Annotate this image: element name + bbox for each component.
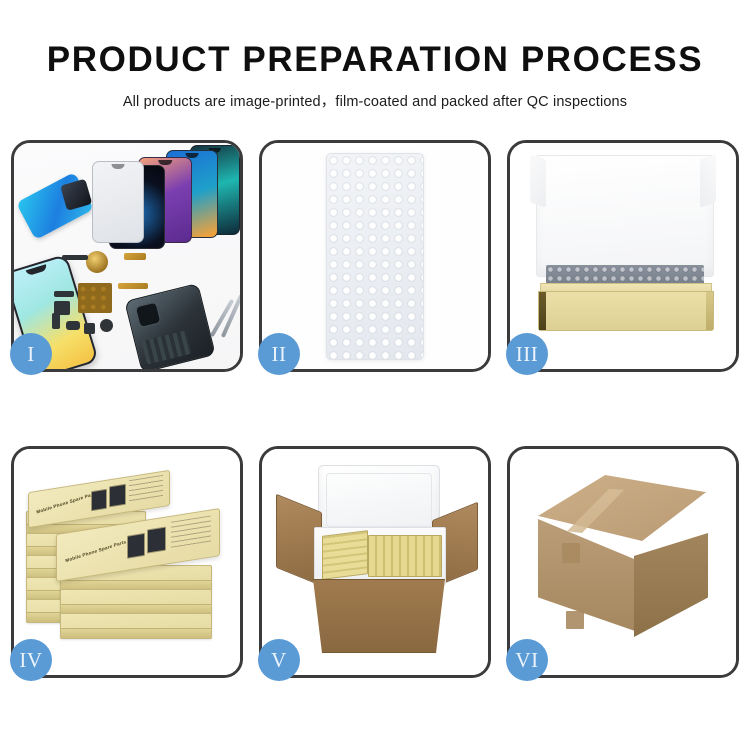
shield-can-icon (54, 301, 70, 315)
box-label-1: Mobile Phone Spare Parts (36, 491, 98, 515)
box-screen-thumb-2b (147, 527, 166, 554)
step-image-2 (262, 143, 488, 369)
step-numeral-6: VI (515, 650, 538, 671)
step-card-5: V (259, 446, 491, 678)
step-numeral-1: I (27, 344, 35, 365)
page-title: PRODUCT PREPARATION PROCESS (0, 42, 750, 77)
antenna-strip-icon (54, 291, 74, 297)
step-badge-1: I (10, 333, 52, 375)
yellow-box-front-icon (538, 291, 714, 331)
vibrator-icon (84, 323, 95, 334)
process-steps-grid: I II (11, 140, 739, 678)
speaker-coil-icon (86, 251, 108, 273)
flex-connector-2-icon (118, 283, 148, 289)
step-numeral-5: V (271, 650, 287, 671)
foam-flap-left-icon (530, 154, 546, 207)
box-screen-thumb-1b (109, 484, 126, 508)
box-screen-thumb-1a (91, 489, 107, 512)
step-badge-6: VI (506, 639, 548, 681)
box-stack: Mobile Phone Spare Parts Mobile Phone Sp… (26, 467, 228, 657)
carton-tape-lower-icon (566, 611, 584, 629)
header: PRODUCT PREPARATION PROCESS All products… (0, 0, 750, 111)
box-screen-thumb-2a (127, 533, 145, 559)
step-card-4: Mobile Phone Spare Parts Mobile Phone Sp… (11, 446, 243, 678)
step-numeral-3: III (516, 344, 538, 365)
foam-cooler-lid-icon (318, 465, 440, 535)
tempered-glass-icon (92, 161, 144, 243)
step-badge-4: IV (10, 639, 52, 681)
box-spec-lines-1 (129, 475, 163, 502)
carton-tape-upper-icon (562, 543, 580, 563)
step-badge-3: III (506, 333, 548, 375)
screw-set-icon (78, 283, 112, 313)
carton-left-face-icon (538, 519, 635, 631)
step-badge-2: II (258, 333, 300, 375)
yellow-boxes-group-left (322, 530, 368, 580)
step-image-3 (510, 143, 736, 369)
stacked-box-f2 (60, 589, 212, 615)
box-label-2: Mobile Phone Spare Parts (65, 539, 127, 563)
step-image-6 (510, 449, 736, 675)
step-card-1: I (11, 140, 243, 372)
bubble-wrap-icon (326, 153, 424, 360)
step-numeral-2: II (272, 344, 287, 365)
step-card-3: III (507, 140, 739, 372)
stacked-box-f3 (60, 613, 212, 639)
carton-front-icon (304, 579, 454, 653)
sim-tray-icon (52, 313, 60, 329)
step-image-5 (262, 449, 488, 675)
phone-back-housing-icon (124, 283, 216, 369)
box-spec-lines-2 (171, 515, 211, 547)
button-icon (100, 319, 113, 332)
flex-connector-1-icon (124, 253, 146, 260)
step-badge-5: V (258, 639, 300, 681)
step-image-4: Mobile Phone Spare Parts Mobile Phone Sp… (14, 449, 240, 675)
step-image-1 (14, 143, 240, 369)
foam-flap-right-icon (700, 154, 716, 207)
step-card-2: II (259, 140, 491, 372)
yellow-boxes-group-right (368, 535, 442, 577)
camera-module-icon (66, 321, 80, 330)
carton-right-face-icon (634, 533, 708, 637)
step-numeral-4: IV (19, 650, 42, 671)
product-preparation-infographic: PRODUCT PREPARATION PROCESS All products… (0, 0, 750, 750)
page-subtitle: All products are image-printed，film-coat… (0, 90, 750, 111)
adhesive-film-icon (16, 172, 94, 240)
earpiece-chip-icon (62, 255, 88, 260)
step-card-6: VI (507, 446, 739, 678)
foam-lid-icon (536, 155, 714, 277)
